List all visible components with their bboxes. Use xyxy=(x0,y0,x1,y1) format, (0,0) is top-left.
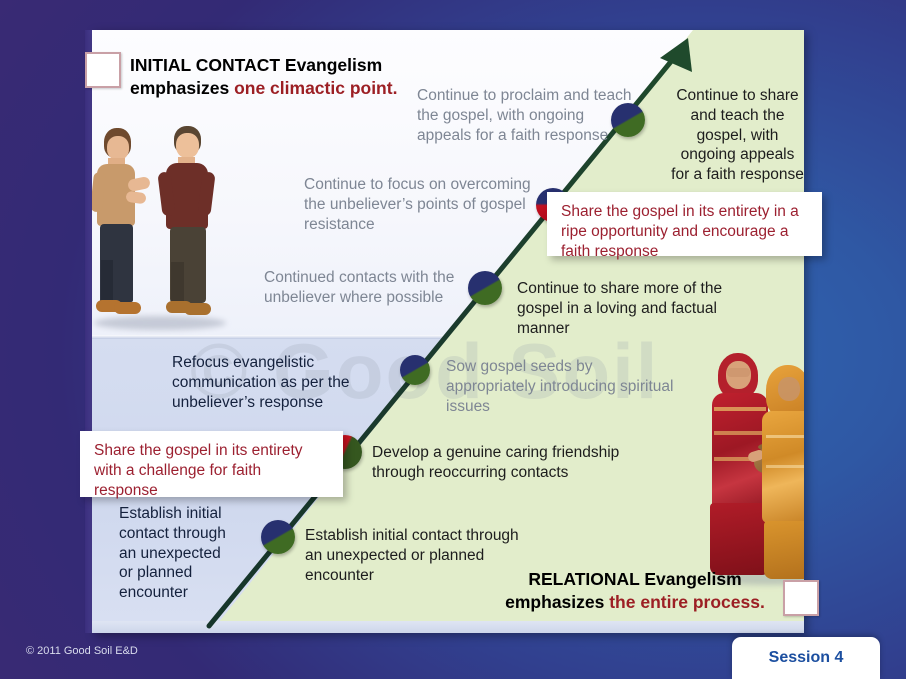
right-text-4: Sow gospel seeds by appropriately introd… xyxy=(446,357,686,416)
heading-relational-line2-accent: the entire process. xyxy=(609,592,765,612)
callout-left-challenge-for-faith: Share the gospel in its entirety with a … xyxy=(80,431,343,497)
heading-initial-contact: INITIAL CONTACT Evangelism emphasizes on… xyxy=(130,54,410,101)
left-text-4: Refocus evangelistic communication as pe… xyxy=(172,353,415,412)
heading-initial-line2-accent: one climactic point. xyxy=(234,78,397,98)
session-tab-label: Session 4 xyxy=(769,649,844,667)
copyright-notice: © 2011 Good Soil E&D xyxy=(26,645,138,657)
left-text-1: Continue to proclaim and teach the gospe… xyxy=(417,86,632,145)
heading-relational-line2-prefix: emphasizes xyxy=(505,592,609,612)
right-text-5: Develop a genuine caring friendship thro… xyxy=(372,443,624,483)
callout-right-ripe-opportunity: Share the gospel in its entirety in a ri… xyxy=(547,192,822,256)
heading-initial-line1: INITIAL CONTACT Evangelism xyxy=(130,54,410,77)
left-text-3: Continued contacts with the unbeliever w… xyxy=(264,268,467,308)
milestone-dot-3 xyxy=(468,271,502,305)
left-text-6: Establish initial contact through an une… xyxy=(119,504,237,603)
heading-initial-line2-prefix: emphasizes xyxy=(130,78,234,98)
slide-root: © Good Soil xyxy=(0,0,906,679)
right-text-1: Continue to share and teach the gospel, … xyxy=(670,86,804,185)
heading-relational: RELATIONAL Evangelism emphasizes the ent… xyxy=(490,568,780,615)
slide-canvas: © Good Soil xyxy=(92,30,804,633)
legend-square-initial xyxy=(85,52,121,88)
heading-relational-line1: RELATIONAL Evangelism xyxy=(490,568,780,591)
left-text-2: Continue to focus on overcoming the unbe… xyxy=(304,175,541,234)
right-text-3: Continue to share more of the gospel in … xyxy=(517,279,729,338)
milestone-dot-6 xyxy=(261,520,295,554)
session-tab[interactable]: Session 4 xyxy=(732,637,880,679)
legend-square-relational xyxy=(783,580,819,616)
